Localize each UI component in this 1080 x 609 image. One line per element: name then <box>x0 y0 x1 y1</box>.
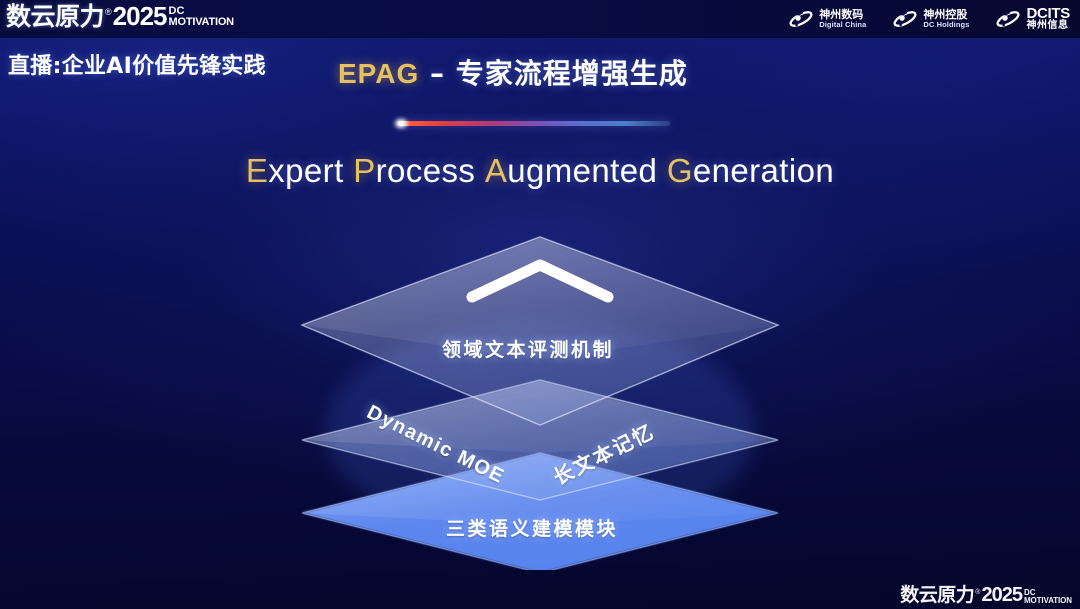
partner-name-cn: DCITS <box>1026 6 1070 21</box>
partner-text: 神州控股 DC Holdings <box>923 9 969 28</box>
watermark-year: 2025 <box>981 585 1022 605</box>
subtitle-rest-1: xpert <box>268 152 343 189</box>
partner-logo-digital-china: 神州数码 Digital China <box>788 8 866 30</box>
partner-text: 神州数码 Digital China <box>819 9 866 28</box>
slide-root: 数云原力 ® 2025 DC MOTIVATION 神州数码 Digital C… <box>0 0 1080 609</box>
partner-text: DCITS 神州信息 <box>1026 6 1070 32</box>
partner-name-en: Digital China <box>819 21 866 29</box>
live-stream-label: 直播:企业AI价值先锋实践 <box>8 48 266 80</box>
watermark-dc-bottom: MOTIVATION <box>1024 597 1072 605</box>
title-acronym: EPAG <box>338 58 419 89</box>
subtitle-rest-2: rocess <box>376 152 476 189</box>
watermark-registered: ® <box>974 589 981 605</box>
event-logo-year: 2025 <box>113 3 167 29</box>
page-title: EPAG – 专家流程增强生成 <box>338 52 688 92</box>
subtitle: Expert Process Augmented Generation <box>0 152 1080 190</box>
partner-logo-group: 神州数码 Digital China 神州控股 DC Holdings <box>788 6 1070 32</box>
partner-name-en: DC Holdings <box>923 21 969 29</box>
swirl-icon <box>788 8 814 30</box>
layer-label-top: 领域文本评测机制 <box>442 335 614 362</box>
gradient-divider <box>398 121 670 126</box>
layer-stack-diagram: 领域文本评测机制 Dynamic MOE 长文本记忆 三类语义建模模块 <box>264 225 816 570</box>
layer-label-bottom: 三类语义建模模块 <box>446 514 618 541</box>
event-logo-dc: DC MOTIVATION <box>167 6 234 29</box>
subtitle-cap-4: G <box>667 152 693 189</box>
partner-logo-dc-holdings: 神州控股 DC Holdings <box>892 8 969 30</box>
subtitle-cap-2: P <box>353 152 375 189</box>
event-logo: 数云原力 ® 2025 DC MOTIVATION <box>6 3 234 29</box>
subtitle-rest-4: eneration <box>693 152 834 189</box>
swirl-icon <box>995 8 1021 30</box>
swirl-icon <box>892 8 918 30</box>
title-separator: – <box>419 57 456 90</box>
partner-name-cn: 神州数码 <box>819 9 866 21</box>
watermark-dc: DC MOTIVATION <box>1022 589 1072 605</box>
subtitle-cap-3: A <box>485 152 507 189</box>
event-logo-name: 数云原力 <box>6 4 104 29</box>
subtitle-cap-1: E <box>246 152 268 189</box>
subtitle-rest-3: ugmented <box>507 152 657 189</box>
partner-name-en: 神州信息 <box>1026 21 1070 32</box>
title-chinese: 专家流程增强生成 <box>456 57 688 90</box>
watermark-name: 数云原力 <box>900 586 974 605</box>
event-logo-dc-bottom: MOTIVATION <box>169 17 234 29</box>
partner-name-cn: 神州控股 <box>923 9 969 21</box>
partner-logo-dcits: DCITS 神州信息 <box>995 6 1070 32</box>
watermark-logo: 数云原力 ® 2025 DC MOTIVATION <box>900 585 1072 605</box>
registered-mark: ® <box>104 8 113 29</box>
